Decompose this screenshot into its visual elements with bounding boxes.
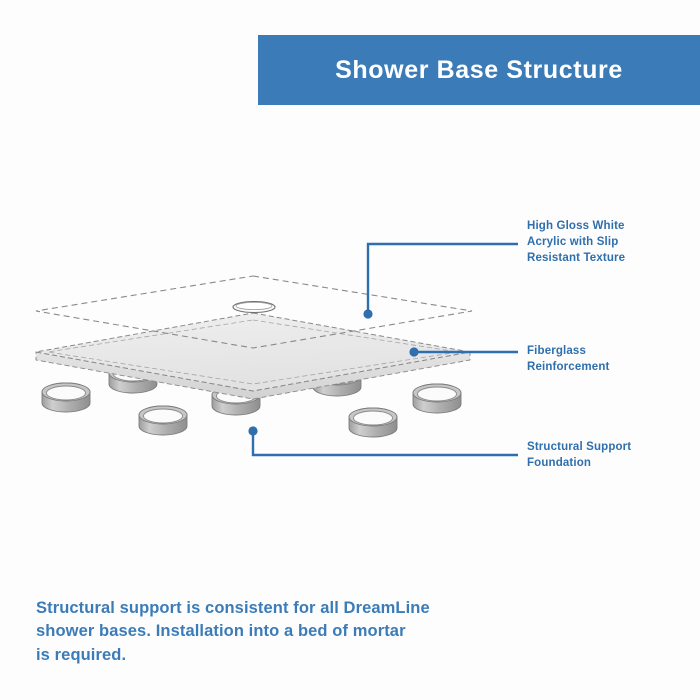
callout-label-fiberglass: Fiberglass Reinforcement	[527, 344, 687, 376]
support-ring	[42, 383, 90, 412]
shower-base-structure-page: Shower Base Structure	[0, 0, 700, 700]
fiberglass-reinforcement-layer	[36, 313, 470, 399]
drain-opening	[233, 302, 275, 313]
anchor-dot-fiberglass	[409, 347, 418, 356]
anchor-dot-acrylic	[363, 309, 372, 318]
anchor-dot-support	[248, 426, 257, 435]
callout-label-support: Structural Support Foundation	[527, 440, 692, 472]
support-ring	[139, 406, 187, 435]
callout-label-acrylic: High Gloss White Acrylic with Slip Resis…	[527, 219, 687, 267]
leader-line-acrylic	[368, 244, 518, 314]
support-ring	[349, 408, 397, 437]
support-ring	[413, 384, 461, 413]
footer-caption: Structural support is consistent for all…	[36, 597, 506, 667]
